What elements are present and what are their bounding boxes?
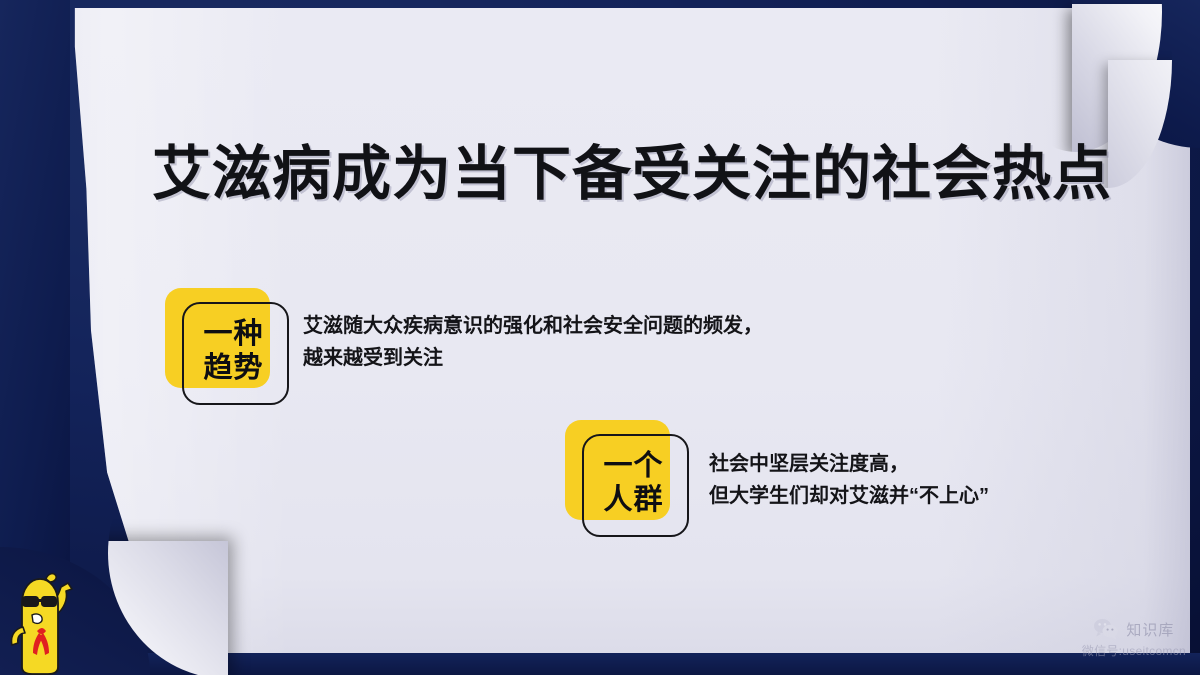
watermark-label: 知识库: [1126, 619, 1174, 640]
badge-label-line2: 人群: [603, 484, 663, 517]
watermark-row: 知识库: [1093, 618, 1174, 640]
wechat-icon: [1093, 618, 1119, 640]
watermark: 知识库 微信号:useitcomcn: [1082, 618, 1186, 659]
badge-trend: 一种 趋势: [165, 288, 287, 406]
watermark-sub: 微信号:useitcomcn: [1082, 642, 1186, 659]
badge-label-line2: 趋势: [203, 352, 263, 385]
point-body-audience: 社会中坚层关注度高， 但大学生们却对艾滋并“不上心”: [709, 420, 989, 513]
point-body-trend: 艾滋随大众疾病意识的强化和社会安全问题的频发， 越来越受到关注: [303, 288, 763, 375]
point-block-audience: 一个 人群 社会中坚层关注度高， 但大学生们却对艾滋并“不上心”: [565, 420, 989, 538]
badge-label: 一种 趋势: [182, 302, 285, 401]
point-body-line1: 社会中坚层关注度高，: [709, 448, 989, 480]
badge-label-line1: 一种: [203, 318, 263, 351]
point-block-trend: 一种 趋势 艾滋随大众疾病意识的强化和社会安全问题的频发， 越来越受到关注: [165, 288, 763, 406]
aids-awareness-mascot-icon: [6, 563, 84, 675]
slide-canvas: 艾滋病成为当下备受关注的社会热点 一种 趋势 艾滋随大众疾病意识的强化和社会安全…: [0, 0, 1200, 675]
page-title: 艾滋病成为当下备受关注的社会热点: [152, 140, 1112, 210]
point-body-line1: 艾滋随大众疾病意识的强化和社会安全问题的频发，: [303, 310, 763, 342]
badge-label: 一个 人群: [582, 434, 685, 533]
point-body-line2: 越来越受到关注: [303, 342, 763, 374]
point-body-line2: 但大学生们却对艾滋并“不上心”: [709, 480, 989, 512]
badge-audience: 一个 人群: [565, 420, 687, 538]
badge-label-line1: 一个: [603, 450, 663, 483]
